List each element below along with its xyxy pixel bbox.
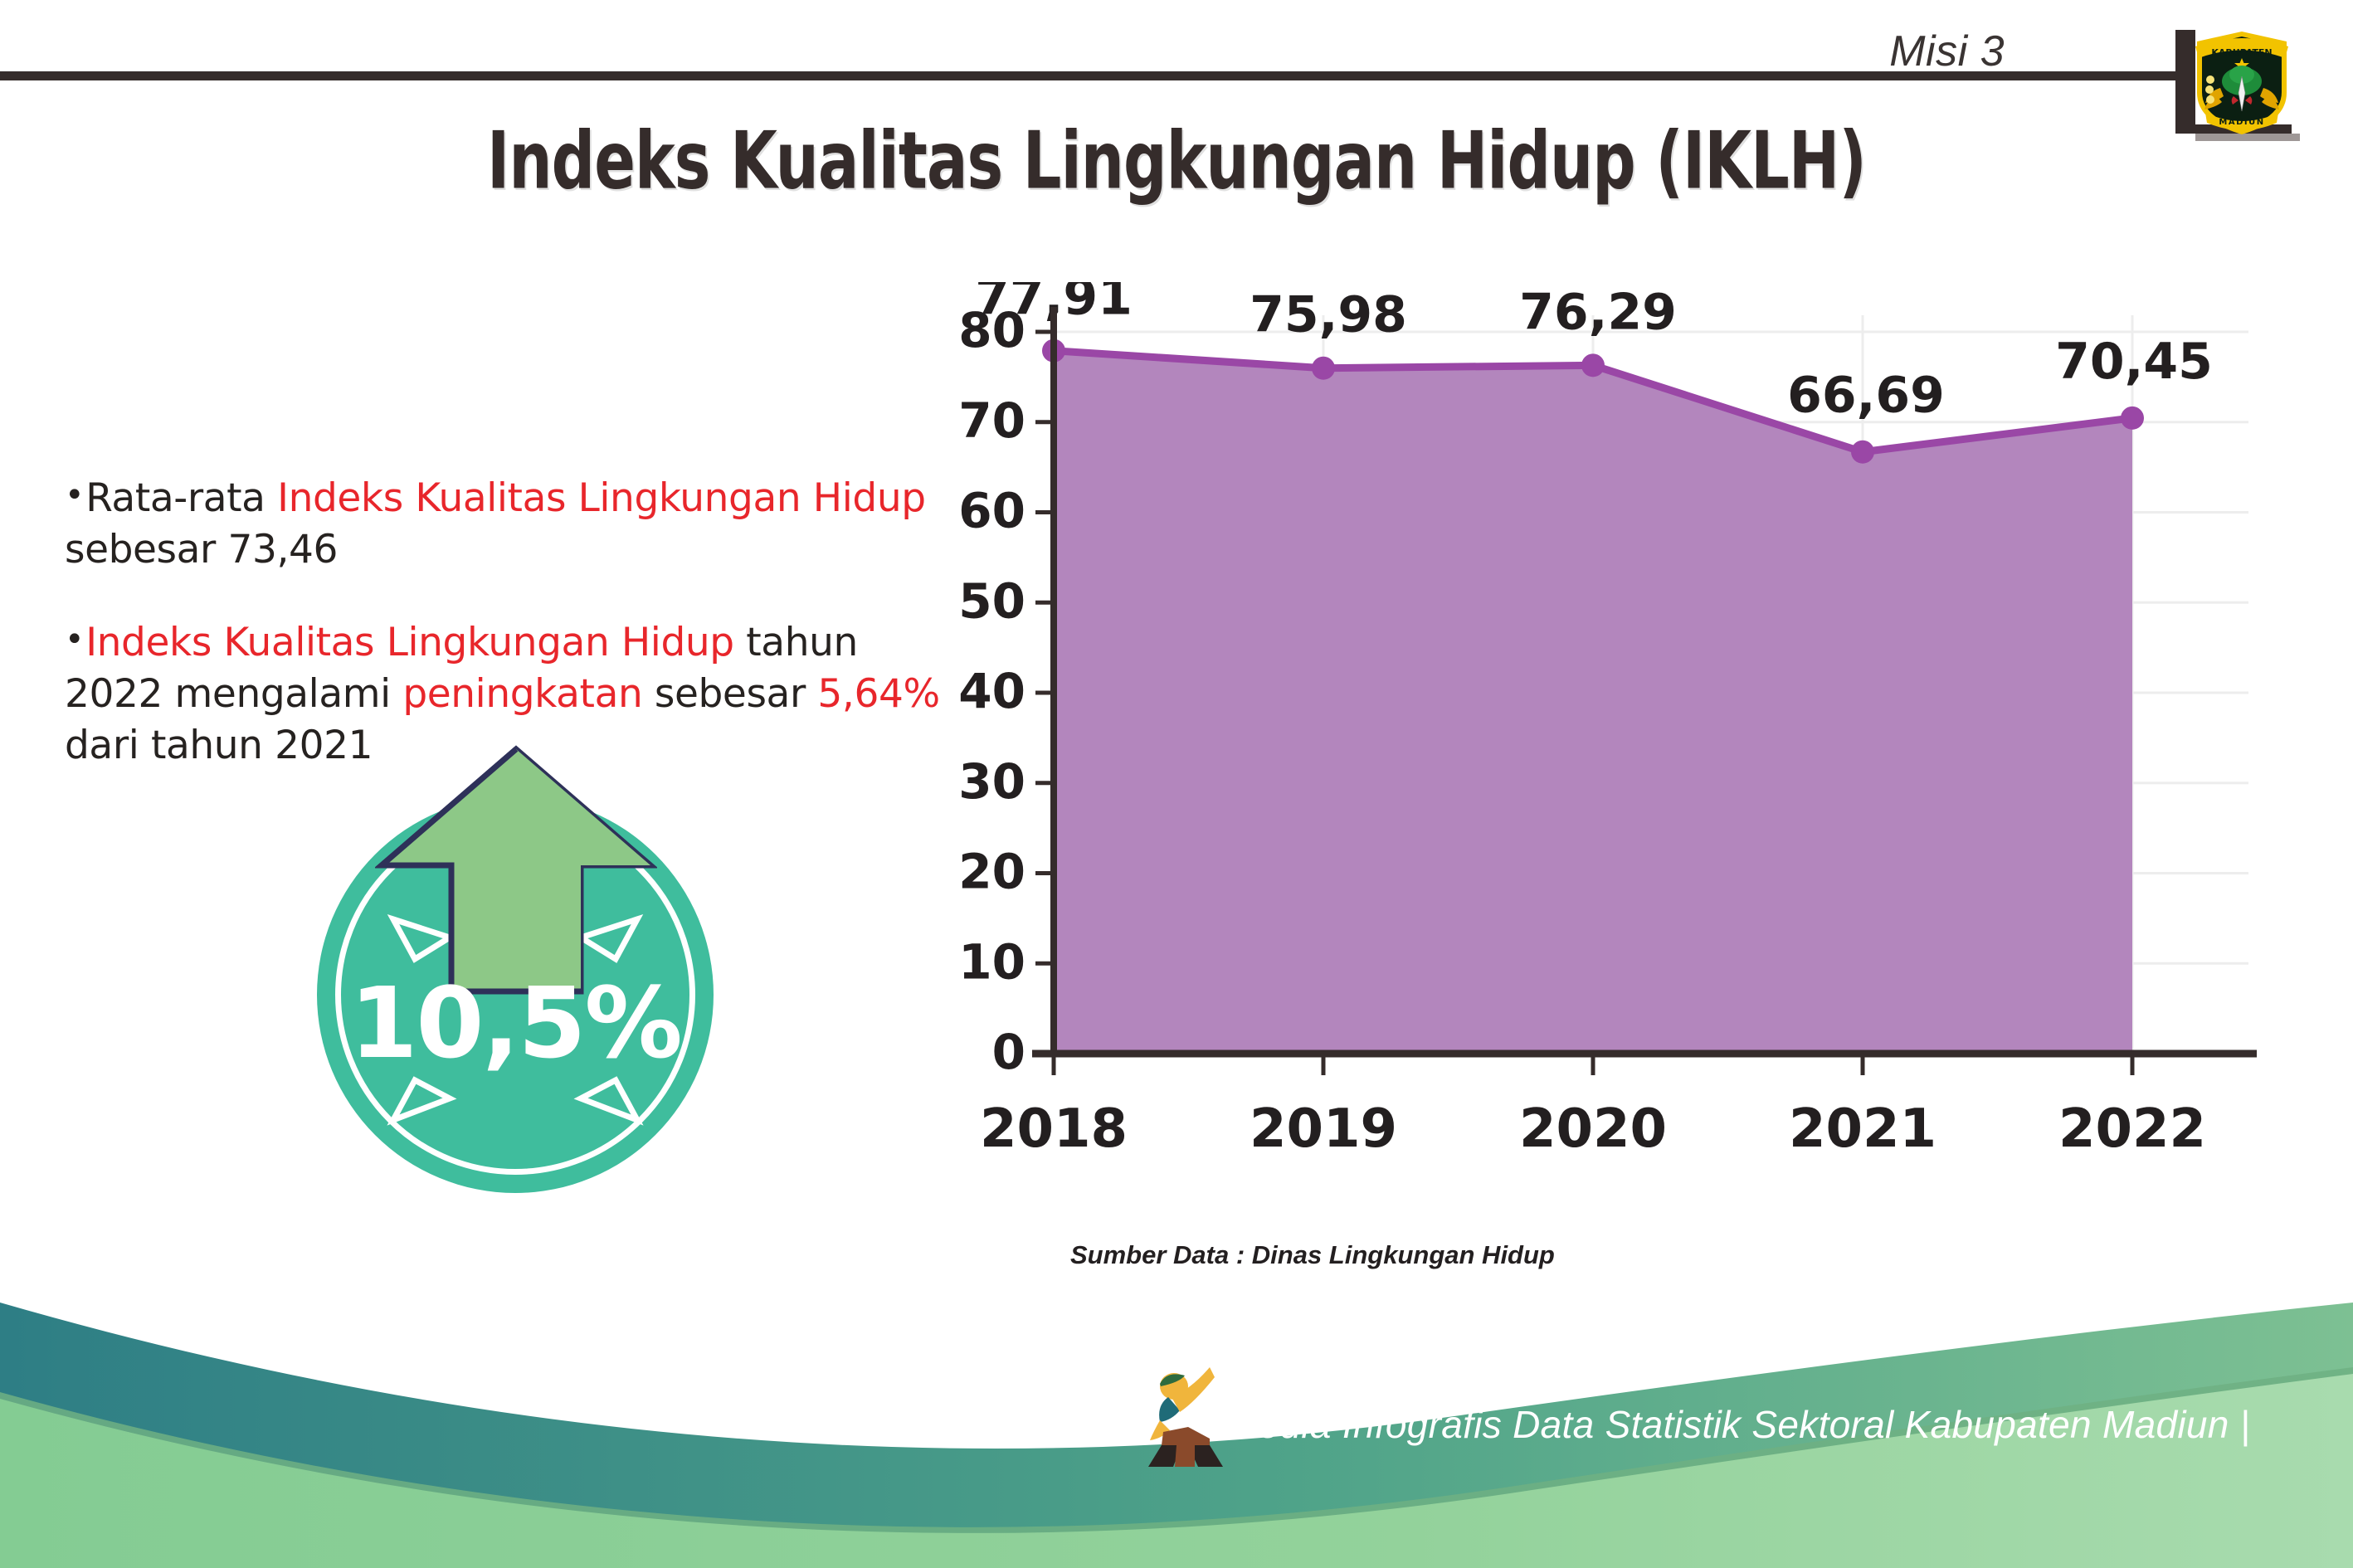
bullet-2-seg-1: Indeks Kualitas Lingkungan Hidup (85, 620, 734, 665)
chart-value-label: 75,98 (1250, 286, 1407, 344)
misi-label: Misi 3 (1889, 27, 2005, 76)
bullet-item-1: •Rata-rata Indeks Kualitas Lingkungan Hi… (65, 473, 961, 576)
badge-percent-value: 10,5% (317, 974, 714, 1072)
bullet-marker: • (65, 476, 84, 514)
page-title: Indeks Kualitas Lingkungan Hidup (IKLH) (71, 116, 2282, 207)
increase-badge: 10,5% (317, 796, 714, 1193)
bullet-1-seg-1: Rata-rata (85, 475, 277, 521)
chart-area-fill (1054, 351, 2132, 1054)
chart-x-tick-labels: 20182019202020212022 (980, 1098, 2206, 1160)
iklh-area-chart: 01020304050607080 20182019202020212022 7… (954, 282, 2282, 1220)
y-tick-label: 30 (958, 753, 1025, 810)
x-tick-label: 2021 (1789, 1098, 1936, 1160)
x-tick-label: 2022 (2058, 1098, 2206, 1160)
bullet-2-seg-5: 5,64% (817, 671, 939, 717)
x-tick-label: 2020 (1519, 1098, 1667, 1160)
bullet-2-seg-6: dari tahun 2021 (65, 723, 373, 768)
header-rule (0, 71, 2190, 80)
x-tick-label: 2018 (980, 1098, 1128, 1160)
bullet-2-seg-4: sebesar (642, 671, 817, 717)
y-tick-label: 20 (958, 844, 1025, 900)
y-tick-label: 10 (958, 933, 1025, 990)
up-arrow-icon (375, 743, 657, 1000)
x-tick-label: 2019 (1250, 1098, 1397, 1160)
chart-y-tick-labels: 01020304050607080 (958, 302, 1025, 1080)
y-tick-label: 40 (958, 663, 1025, 719)
bullet-1-seg-3: sebesar 73,46 (65, 527, 338, 572)
bullet-marker: • (65, 621, 84, 659)
chart-value-label: 70,45 (2055, 333, 2213, 391)
bullet-2-seg-3: peningkatan (402, 671, 642, 717)
infographic-page: Misi 3 KABUPATEN MADIUN Indeks Kualitas … (0, 0, 2353, 1568)
logo-top-text: KABUPATEN (2211, 47, 2272, 58)
footer-caption: Media Infografis Data Statistik Sektoral… (1226, 1402, 2250, 1447)
y-tick-label: 60 (958, 483, 1025, 539)
y-tick-label: 0 (992, 1024, 1025, 1080)
chart-source-note: Sumber Data : Dinas Lingkungan Hidup (1070, 1240, 1555, 1270)
chart-value-label: 76,29 (1519, 283, 1677, 341)
chart-value-label: 66,69 (1787, 367, 1945, 425)
person-raising-arm-icon (1143, 1359, 1230, 1468)
chart-canvas: 01020304050607080 20182019202020212022 7… (954, 282, 2282, 1220)
footer: Media Infografis Data Statistik Sektoral… (0, 1269, 2353, 1568)
bullet-1-seg-2: Indeks Kualitas Lingkungan Hidup (277, 475, 926, 521)
y-tick-label: 50 (958, 572, 1025, 629)
y-tick-label: 70 (958, 392, 1025, 449)
